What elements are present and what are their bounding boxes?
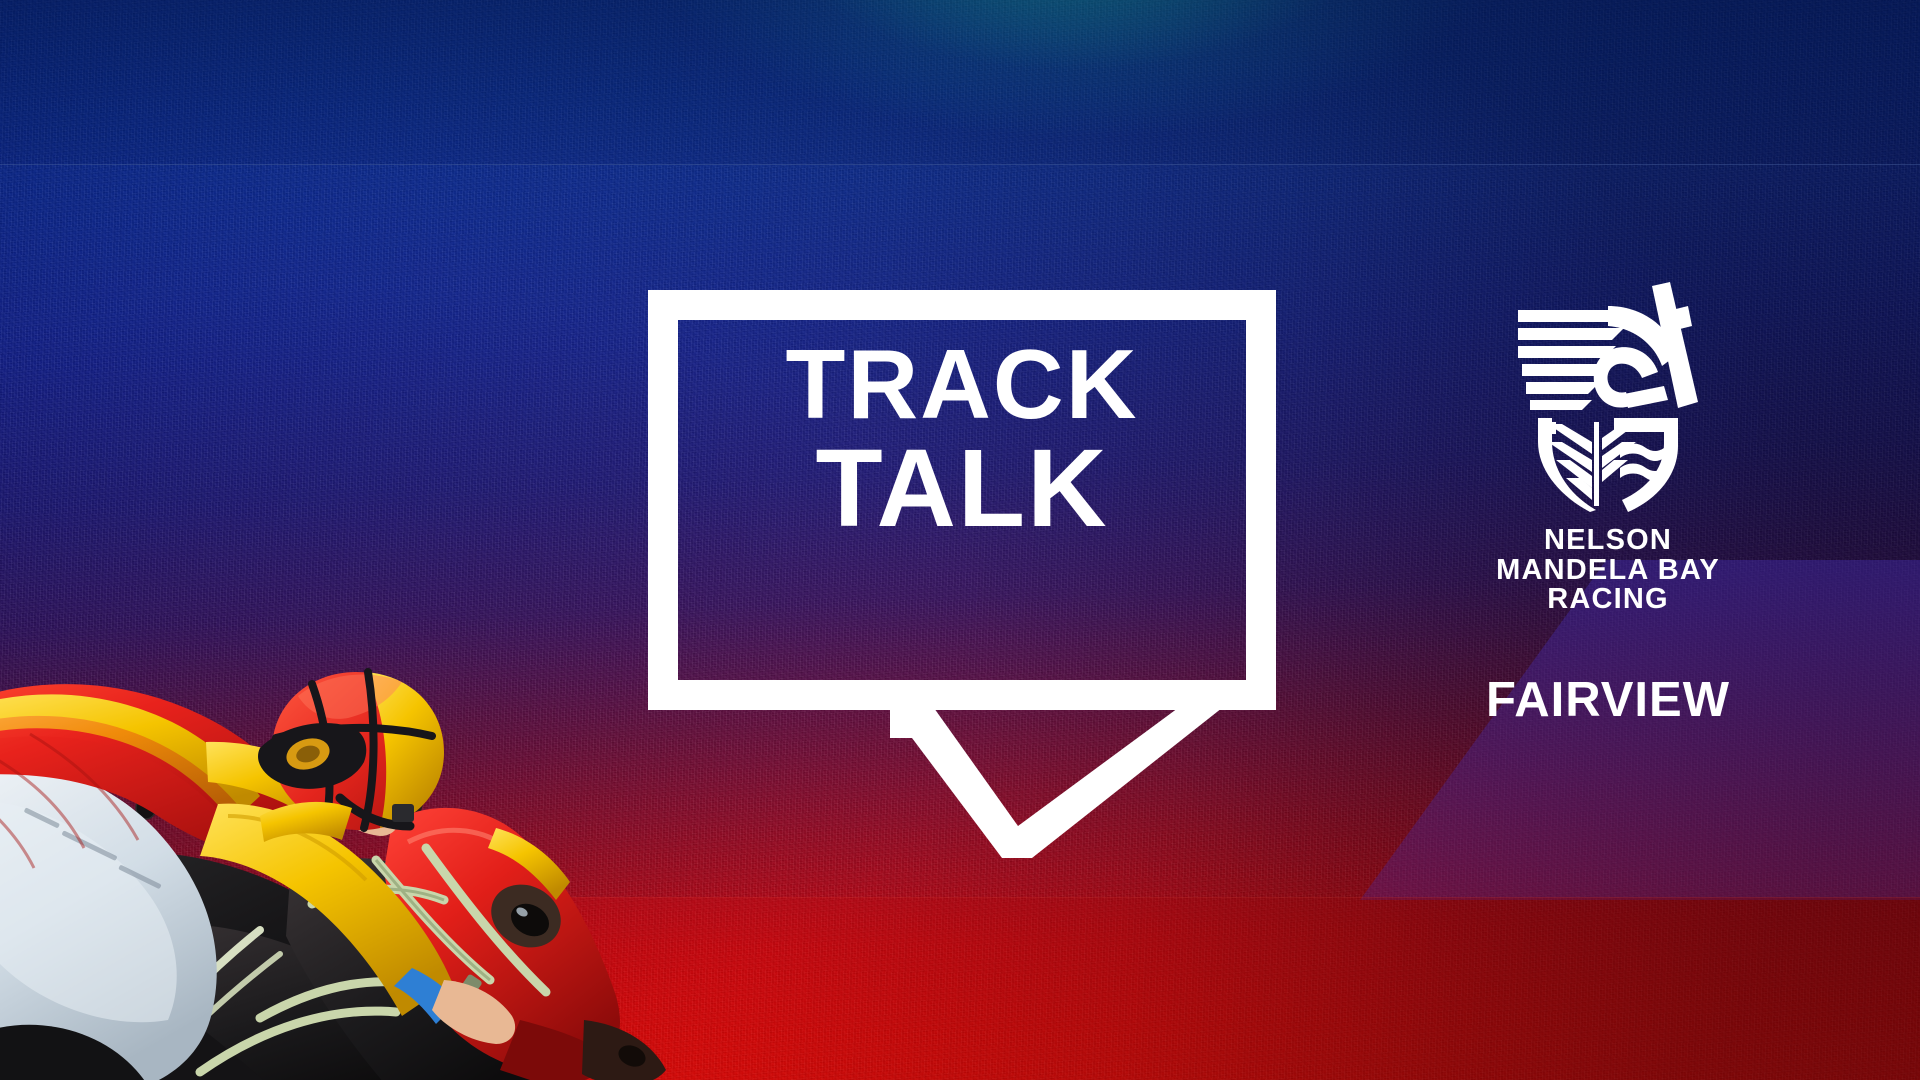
track-word: TRACK <box>786 336 1139 434</box>
track-talk-logo: TRACK TALK <box>648 290 1276 710</box>
nmb-line-3: RACING <box>1458 585 1758 615</box>
nmb-line-2: MANDELA BAY <box>1458 556 1758 586</box>
nmb-wordmark: NELSON MANDELA BAY RACING <box>1458 526 1758 615</box>
poster-canvas: TRACK TALK <box>0 0 1920 1080</box>
nelson-mandela-bay-racing-logo: NELSON MANDELA BAY RACING <box>1458 282 1758 615</box>
talk-word: TALK <box>815 434 1108 542</box>
track-talk-wordmark: TRACK TALK <box>648 336 1276 542</box>
nmb-line-1: NELSON <box>1458 526 1758 556</box>
venue-name: FAIRVIEW <box>1458 672 1758 728</box>
track-talk-line-2: TALK <box>648 434 1276 542</box>
horse-head-shield-icon <box>1512 282 1704 512</box>
speech-bubble-tail <box>890 708 1250 858</box>
track-talk-line-1: TRACK <box>648 336 1276 434</box>
